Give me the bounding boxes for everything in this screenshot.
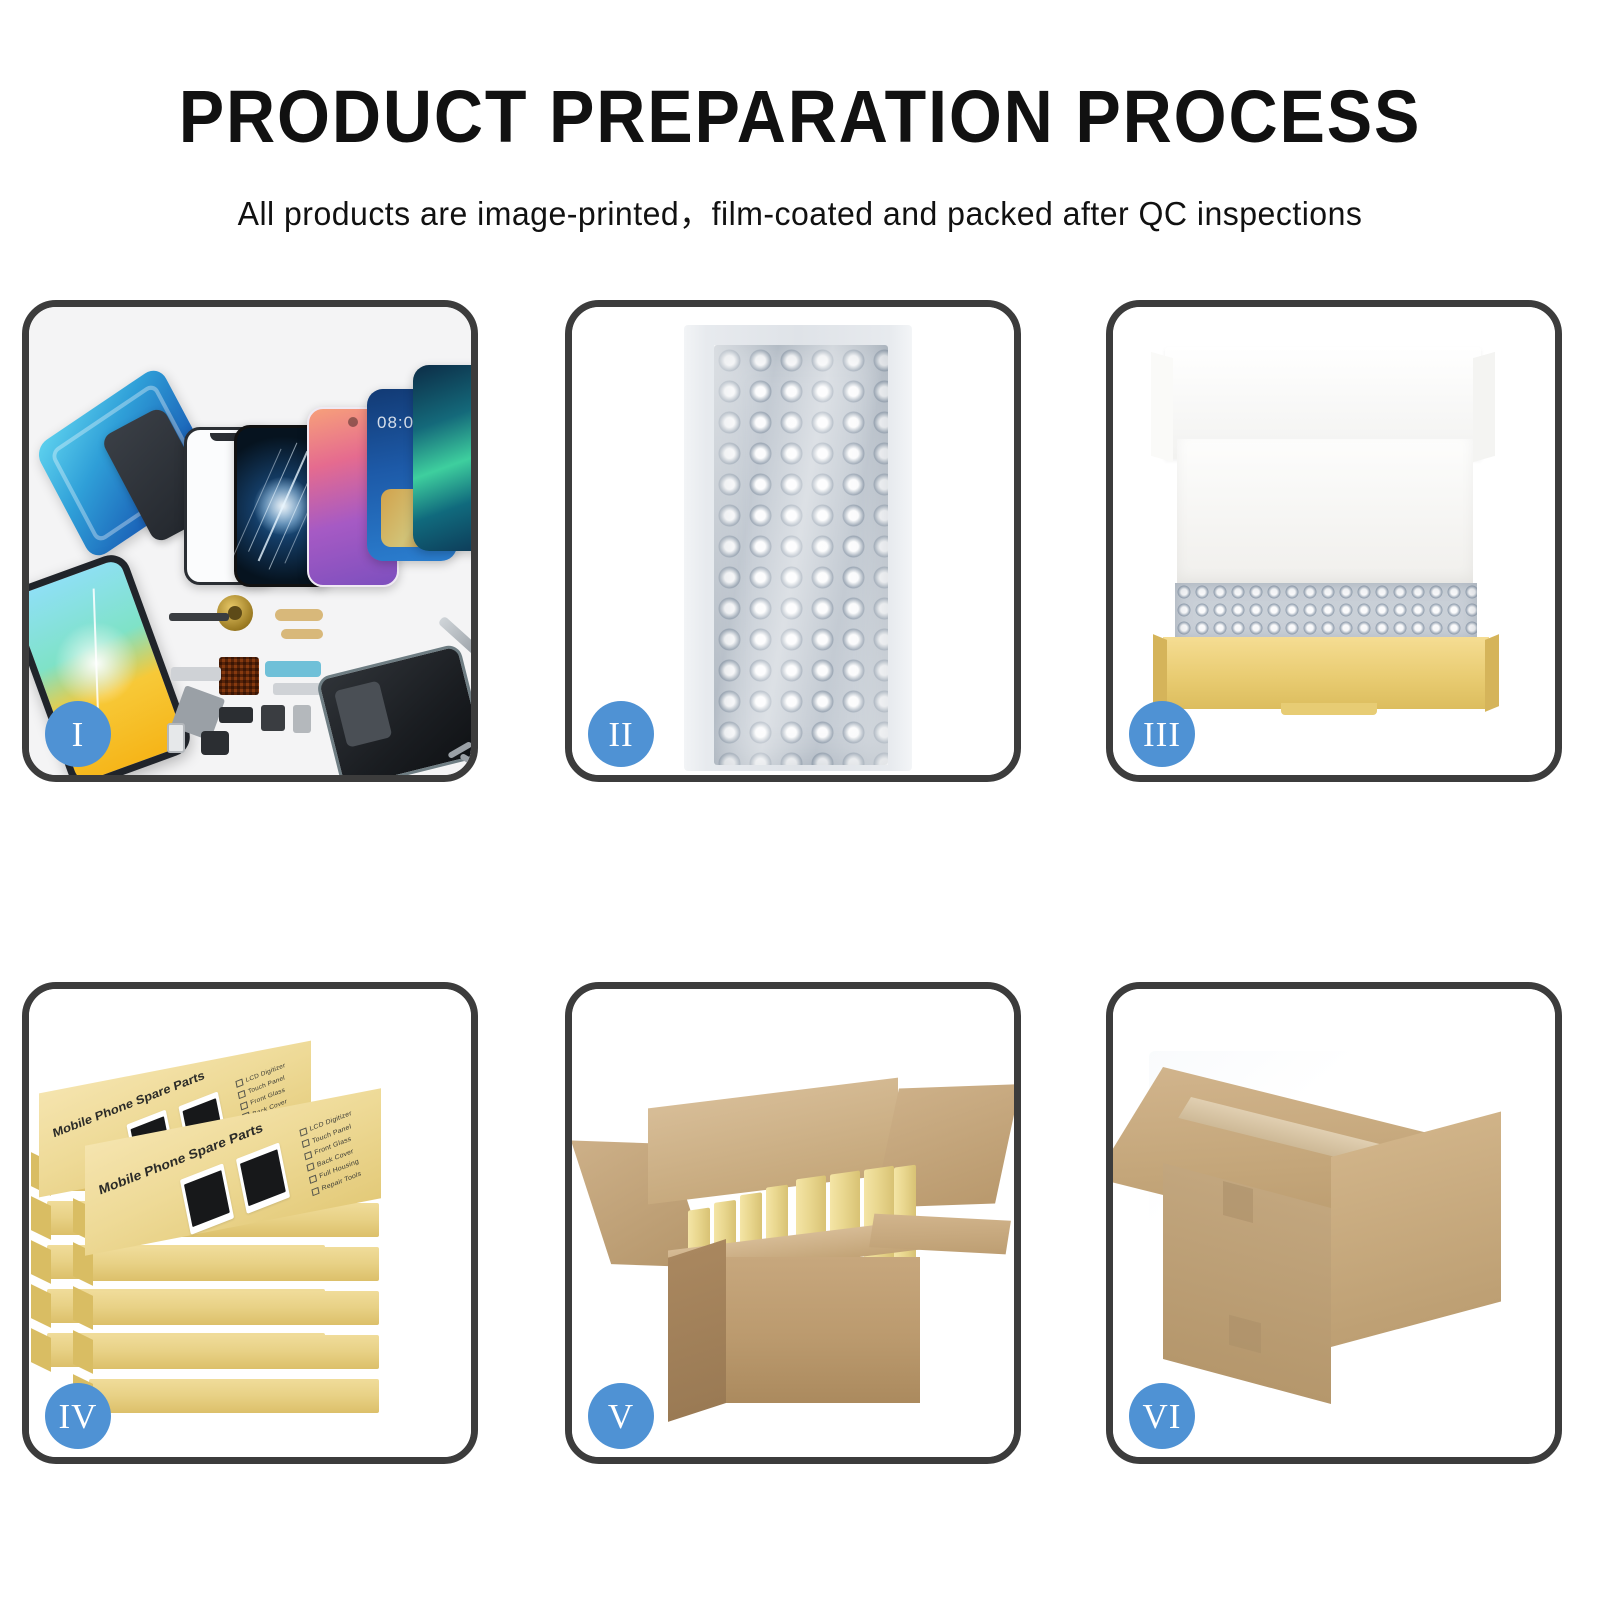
green-phone-icon [413, 365, 471, 551]
step-badge-3: III [1129, 701, 1195, 767]
step-badge-6: VI [1129, 1383, 1195, 1449]
connector-icon [171, 667, 221, 681]
bubble-wrap-image [572, 307, 1014, 775]
box-tray-icon [1163, 637, 1489, 709]
earpiece-icon [169, 613, 229, 621]
step-panel-1[interactable]: 08:08 [22, 300, 478, 782]
carton-left-face [668, 1239, 726, 1422]
sealed-carton-image [1113, 989, 1555, 1457]
sim-tray-icon [167, 723, 185, 753]
speaker-icon [261, 705, 285, 731]
camera-module-icon [219, 707, 253, 723]
teal-flex-icon [265, 661, 321, 677]
ic-chip-icon [219, 657, 259, 695]
step-panel-5[interactable]: V [565, 982, 1021, 1464]
button-module-icon [201, 731, 229, 755]
box-edge [89, 1247, 379, 1281]
step-badge-2: II [588, 701, 654, 767]
flex-cable-icon [275, 609, 323, 621]
bubble-pouch-icon [684, 325, 912, 771]
open-carton-image [572, 989, 1014, 1457]
box-phone-thumbnail [180, 1163, 234, 1235]
box-edge [89, 1335, 379, 1369]
box-edge [89, 1379, 379, 1413]
step-badge-5: V [588, 1383, 654, 1449]
product-preparation-poster: PRODUCT PREPARATION PROCESS All products… [0, 0, 1600, 1600]
carton-flap-front [869, 1214, 1011, 1255]
box-tab-icon [1281, 703, 1377, 715]
process-step-grid: 08:08 [0, 0, 1600, 1600]
open-retail-box-image [1113, 307, 1555, 775]
wrapped-product-icon [1175, 583, 1477, 641]
sensor-icon [293, 705, 311, 733]
box-edge [89, 1291, 379, 1325]
connector-icon [273, 683, 321, 695]
step-panel-6[interactable]: VI [1106, 982, 1562, 1464]
flex-cable-icon [281, 629, 323, 639]
foam-liner-icon [1177, 439, 1473, 585]
step-badge-4: IV [45, 1383, 111, 1449]
box-stack-group: Mobile Phone Spare Parts LCD Digitizer T… [29, 989, 471, 1457]
stacked-boxes-image: Mobile Phone Spare Parts LCD Digitizer T… [29, 989, 471, 1457]
step-panel-4[interactable]: Mobile Phone Spare Parts LCD Digitizer T… [22, 982, 478, 1464]
step-panel-2[interactable]: II [565, 300, 1021, 782]
plastic-sheen-overlay [714, 345, 888, 765]
box-phone-thumbnail [236, 1142, 290, 1214]
box-checklist: LCD Digitizer Touch Panel Front Glass Ba… [299, 1108, 365, 1199]
step-panel-3[interactable]: III [1106, 300, 1562, 782]
step-badge-1: I [45, 701, 111, 767]
parts-collage-image: 08:08 [29, 307, 471, 775]
